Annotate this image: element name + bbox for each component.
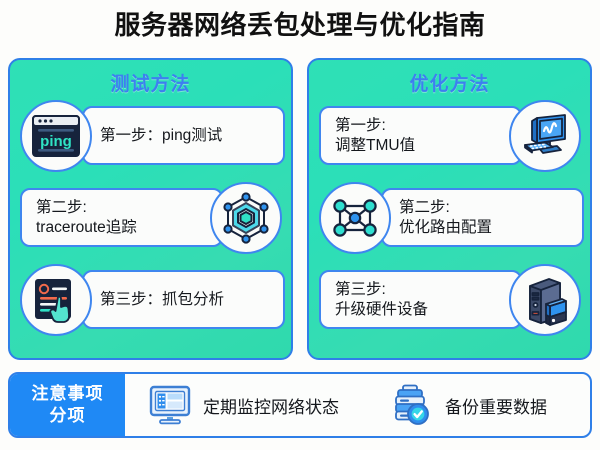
route-nodes-icon — [319, 182, 391, 254]
monitor-keyboard-icon — [509, 100, 581, 172]
panel-optimization-methods: 优化方法 第一步: 调整TMU值 — [307, 58, 592, 360]
network-hexagon-icon — [210, 182, 282, 254]
packet-capture-hand-icon — [20, 264, 92, 336]
svg-text:ping: ping — [40, 133, 72, 150]
step-line: 第二步: — [36, 198, 137, 218]
note-text-backup: 备份重要数据 — [445, 393, 547, 418]
step-row-test-1: ping 第一步：ping测试 — [20, 100, 285, 172]
step-line: 升级硬件设备 — [335, 300, 428, 320]
step-text-test-2: 第二步: traceroute追踪 — [20, 188, 223, 247]
step-text-test-1: 第一步：ping测试 — [82, 106, 285, 165]
notes-bar: 注意事项 分项 — [8, 372, 592, 438]
step-line: 第三步：抓包分析 — [100, 289, 224, 310]
step-line: 第二步: — [399, 198, 492, 218]
step-line: 第一步：ping测试 — [100, 125, 222, 146]
panel-heading-test-methods: 测试方法 — [10, 69, 291, 96]
panel-heading-optimization-methods: 优化方法 — [309, 69, 590, 96]
notes-label-line1: 注意事项 — [32, 383, 104, 405]
monitor-dashboard-icon — [147, 382, 193, 428]
panel-test-methods: 测试方法 ping 第一步：ping测试 — [8, 58, 293, 360]
step-line: 第一步: — [335, 116, 415, 136]
ping-browser-icon: ping — [20, 100, 92, 172]
page-title: 服务器网络丢包处理与优化指南 — [0, 6, 600, 44]
step-row-test-2: 第二步: traceroute追踪 — [20, 182, 285, 254]
notes-label-line2: 分项 — [50, 405, 86, 427]
step-row-opt-3: 第三步: 升级硬件设备 — [319, 264, 584, 336]
notes-items: 定期监控网络状态 — [125, 374, 590, 436]
step-line: 优化路由配置 — [399, 218, 492, 238]
notes-label: 注意事项 分项 — [10, 374, 125, 436]
infographic-root: 服务器网络丢包处理与优化指南 测试方法 ping 第一步：ping测试 — [0, 0, 600, 450]
step-text-opt-1: 第一步: 调整TMU值 — [319, 106, 522, 165]
note-item-backup: 备份重要数据 — [385, 382, 551, 428]
step-line: traceroute追踪 — [36, 218, 137, 238]
step-line: 第三步: — [335, 280, 428, 300]
step-row-opt-2: 第二步: 优化路由配置 — [319, 182, 584, 254]
server-tower-icon — [509, 264, 581, 336]
step-text-test-3: 第三步：抓包分析 — [82, 270, 285, 329]
step-text-opt-2: 第二步: 优化路由配置 — [381, 188, 584, 247]
note-text-monitor: 定期监控网络状态 — [203, 393, 339, 418]
step-text-opt-3: 第三步: 升级硬件设备 — [319, 270, 522, 329]
step-line: 调整TMU值 — [335, 136, 415, 156]
step-row-opt-1: 第一步: 调整TMU值 — [319, 100, 584, 172]
step-row-test-3: 第三步：抓包分析 — [20, 264, 285, 336]
backup-database-check-icon — [389, 382, 435, 428]
note-item-monitor: 定期监控网络状态 — [143, 382, 343, 428]
